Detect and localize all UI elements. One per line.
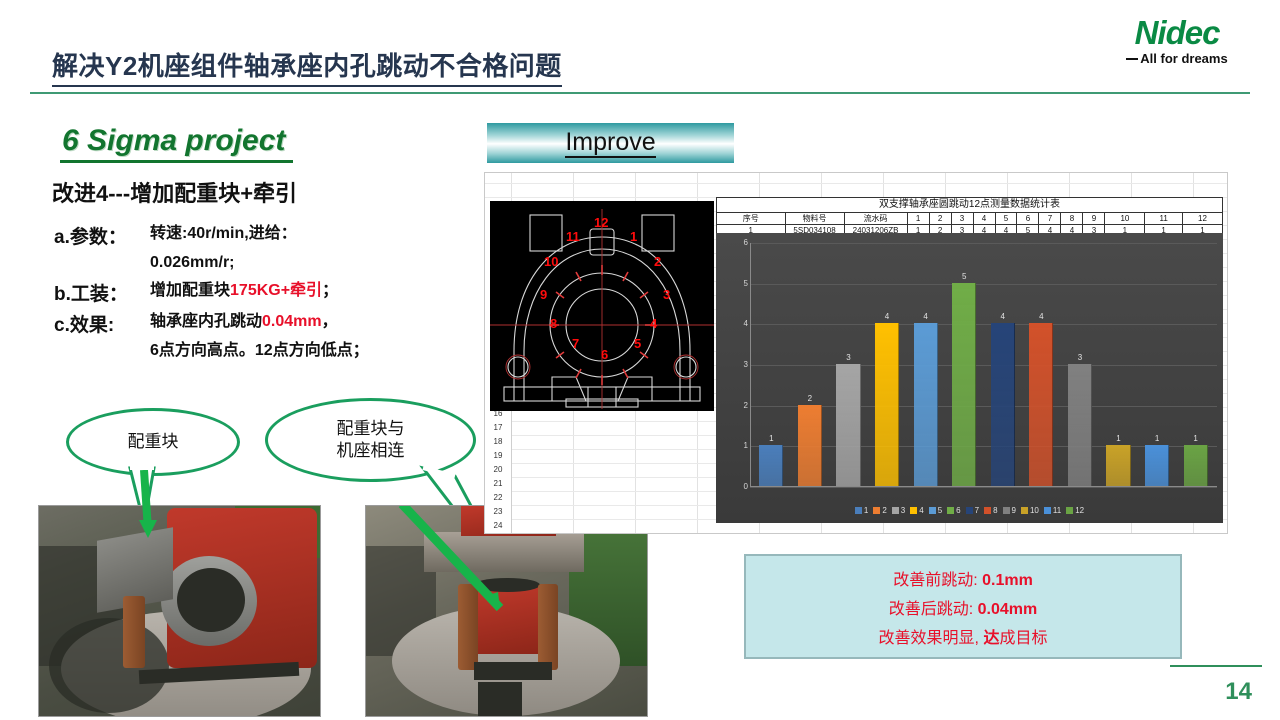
chart-x-axis (750, 486, 1217, 487)
table-header-cell: 11 (1145, 213, 1183, 225)
chart-bar-group: 4 (983, 243, 1022, 486)
table-header-cell: 物料号 (785, 213, 844, 225)
chart-bar[interactable] (1145, 445, 1169, 486)
chart-legend-swatch (929, 507, 936, 514)
cad-number-11: 11 (566, 229, 580, 244)
chart-legend-swatch (1044, 507, 1051, 514)
bullet-c-highlight: 0.04mm (262, 313, 322, 330)
excel-row-header: 21 (485, 477, 512, 492)
logo-tagline-text: All for dreams (1140, 51, 1227, 66)
improvement-heading: 改进4---增加配重块+牵引 (52, 176, 297, 208)
callout-1-text: 配重块 (128, 431, 179, 453)
chart-bar[interactable] (798, 405, 822, 486)
chart-legend: 123456789101112 (716, 506, 1223, 515)
chart-bar-value-label: 2 (808, 394, 812, 403)
page-title: 解决Y2机座组件轴承座内孔跳动不合格问题 (52, 46, 562, 87)
cad-number-8: 8 (550, 316, 557, 331)
table-title: 双支撑轴承座圆跳动12点测量数据统计表 (717, 198, 1223, 213)
chart-bar-group: 3 (829, 243, 868, 486)
bullet-item-b: b.工装： 增加配重块175KG+牵引； (54, 279, 474, 306)
table-header-row: 序号物料号流水码123456789101112 (717, 213, 1223, 225)
chart-bar-value-label: 5 (962, 272, 966, 281)
chart-bars: 123445443111 (752, 243, 1215, 486)
chart-legend-item[interactable]: 12 (1066, 506, 1084, 515)
measurement-data-table: 双支撑轴承座圆跳动12点测量数据统计表 序号物料号流水码123456789101… (716, 197, 1223, 237)
chart-legend-item[interactable]: 3 (892, 506, 905, 515)
chart-bar[interactable] (875, 323, 899, 486)
chart-legend-item[interactable]: 4 (910, 506, 923, 515)
bullet-c-value2: 6点方向高点。12点方向低点； (150, 339, 474, 363)
page-number: 14 (1225, 678, 1252, 706)
chart-legend-item[interactable]: 5 (929, 506, 942, 515)
chart-y-tick-label: 1 (734, 441, 748, 450)
cad-number-9: 9 (540, 287, 547, 302)
chart-bar-value-label: 1 (1116, 434, 1120, 443)
chart-legend-swatch (947, 507, 954, 514)
table-header-cell: 5 (995, 213, 1017, 225)
chart-legend-swatch (1021, 507, 1028, 514)
chart-bar-group: 1 (752, 243, 791, 486)
chart-legend-item[interactable]: 1 (855, 506, 868, 515)
bullet-b-value: 增加配重块175KG+牵引； (150, 279, 338, 303)
chart-legend-item[interactable]: 2 (873, 506, 886, 515)
table-header-cell: 9 (1083, 213, 1105, 225)
photo-left-support-post (123, 596, 145, 668)
chart-bar[interactable] (759, 445, 783, 486)
chart-legend-label: 5 (938, 506, 942, 515)
chart-legend-item[interactable]: 9 (1003, 506, 1016, 515)
chart-bar-value-label: 4 (885, 312, 889, 321)
chart-y-tick-label: 6 (734, 238, 748, 247)
cad-number-1: 1 (630, 229, 637, 244)
chart-y-tick-label: 5 (734, 279, 748, 288)
excel-row-header: 18 (485, 435, 512, 450)
improve-banner: Improve (487, 123, 734, 163)
chart-bar-group: 1 (1099, 243, 1138, 486)
summary-2-label: 改善后跳动: (889, 601, 978, 618)
footer-divider (1170, 665, 1262, 667)
summary-3-pre: 改善效果明显, (879, 630, 984, 647)
chart-bar-value-label: 1 (769, 434, 773, 443)
photo-counterweight-connected (365, 505, 648, 717)
chart-legend-label: 6 (956, 506, 960, 515)
logo-wordmark: Nidec (1092, 16, 1262, 50)
chart-bar-value-label: 1 (1193, 434, 1197, 443)
bullet-b-highlight: 175KG+牵引 (230, 282, 322, 299)
table-header-cell: 2 (929, 213, 951, 225)
improve-banner-label: Improve (565, 128, 655, 158)
summary-line-1: 改善前跳动: 0.1mm (893, 566, 1033, 590)
chart-legend-item[interactable]: 8 (984, 506, 997, 515)
photo-left-bore-inner (177, 568, 245, 632)
chart-bar-group: 2 (791, 243, 830, 486)
chart-legend-label: 1 (864, 506, 868, 515)
chart-bar[interactable] (1106, 445, 1130, 486)
bullet-b-post: ； (322, 282, 338, 299)
chart-y-tick-label: 4 (734, 319, 748, 328)
chart-legend-label: 8 (993, 506, 997, 515)
chart-bar-value-label: 3 (1078, 353, 1082, 362)
photo-right-tslot (478, 682, 522, 716)
cad-number-6: 6 (601, 347, 608, 362)
excel-gridline-h (485, 183, 1227, 184)
photo-right-base-plate (474, 662, 552, 680)
chart-bar-group: 4 (906, 243, 945, 486)
chart-legend-label: 11 (1053, 506, 1061, 515)
callout-connection: 配重块与 机座相连 (265, 398, 476, 482)
chart-legend-item[interactable]: 7 (966, 506, 979, 515)
chart-legend-item[interactable]: 6 (947, 506, 960, 515)
chart-bar[interactable] (914, 323, 938, 486)
summary-3-post: 成目标 (999, 630, 1047, 647)
chart-legend-swatch (873, 507, 880, 514)
summary-line-3: 改善效果明显, 达成目标 (879, 624, 1048, 648)
photo-left-table-slot (49, 618, 169, 713)
chart-bar-value-label: 4 (1039, 312, 1043, 321)
table-header-cell: 12 (1182, 213, 1222, 225)
cad-number-3: 3 (663, 287, 670, 302)
cad-number-10: 10 (544, 254, 558, 269)
chart-legend-label: 12 (1075, 506, 1084, 515)
chart-legend-label: 7 (975, 506, 979, 515)
bar-chart: 0123456 123445443111 123456789101112 (716, 233, 1223, 523)
bullet-item-c: c.效果: 轴承座内孔跳动0.04mm， (54, 310, 474, 337)
bullet-c-post: ， (322, 313, 338, 330)
chart-legend-swatch (1066, 507, 1073, 514)
callout-counterweight: 配重块 (66, 408, 240, 476)
chart-bar-group: 3 (1061, 243, 1100, 486)
chart-y-tick-label: 3 (734, 360, 748, 369)
summary-1-label: 改善前跳动: (893, 572, 982, 589)
chart-legend-swatch (1003, 507, 1010, 514)
excel-row-header: 22 (485, 491, 512, 506)
chart-legend-swatch (892, 507, 899, 514)
header-divider (30, 92, 1250, 94)
cad-outline-icon (490, 201, 714, 411)
chart-bar[interactable] (1184, 445, 1208, 486)
cad-number-12: 12 (594, 215, 608, 230)
chart-bar-group: 5 (945, 243, 984, 486)
chart-bar-group: 4 (1022, 243, 1061, 486)
chart-legend-swatch (910, 507, 917, 514)
bullet-c-key: c.效果: (54, 310, 150, 337)
summary-line-2: 改善后跳动: 0.04mm (889, 595, 1038, 619)
chart-y-axis (750, 243, 751, 487)
chart-legend-swatch (966, 507, 973, 514)
chart-legend-swatch (984, 507, 991, 514)
chart-legend-label: 4 (919, 506, 923, 515)
chart-bar-value-label: 4 (1001, 312, 1005, 321)
table-header-cell: 10 (1105, 213, 1145, 225)
bullet-b-key: b.工装： (54, 279, 150, 306)
chart-bar-group: 1 (1138, 243, 1177, 486)
cad-number-2: 2 (654, 254, 661, 269)
table-header-cell: 3 (951, 213, 973, 225)
bullet-a-value: 转速:40r/min,进给： (150, 222, 297, 246)
chart-legend-swatch (855, 507, 862, 514)
summary-2-value: 0.04mm (978, 601, 1038, 618)
table-header-cell: 4 (973, 213, 995, 225)
bullet-c-pre: 轴承座内孔跳动 (150, 313, 262, 330)
section-heading: 6 Sigma project (60, 124, 293, 163)
photo-right-post-right (538, 584, 558, 670)
excel-screenshot-panel: 23456789101112131415161718192021222324 (484, 172, 1228, 534)
bullet-list: a.参数： 转速:40r/min,进给： 0.026mm/r; b.工装： 增加… (54, 222, 474, 363)
chart-y-tick-label: 0 (734, 482, 748, 491)
chart-gridline (750, 487, 1217, 488)
chart-bar[interactable] (991, 323, 1015, 486)
chart-bar[interactable] (952, 283, 976, 486)
bullet-a-key: a.参数： (54, 222, 150, 249)
excel-row-header: 20 (485, 463, 512, 478)
chart-bar-group: 1 (1176, 243, 1215, 486)
bullet-c-value: 轴承座内孔跳动0.04mm， (150, 310, 338, 334)
chart-legend-item[interactable]: 11 (1044, 506, 1061, 515)
chart-plot-area: 0123456 123445443111 (750, 243, 1217, 487)
table-title-row: 双支撑轴承座圆跳动12点测量数据统计表 (717, 198, 1223, 213)
chart-legend-label: 10 (1030, 506, 1039, 515)
table-header-cell: 1 (907, 213, 929, 225)
table-header-cell: 7 (1039, 213, 1061, 225)
excel-row-header: 19 (485, 449, 512, 464)
excel-row-header: 23 (485, 505, 512, 520)
chart-bar-value-label: 3 (846, 353, 850, 362)
bullet-a-value2: 0.026mm/r; (150, 251, 474, 275)
table-header-cell: 6 (1017, 213, 1039, 225)
bullet-item-a: a.参数： 转速:40r/min,进给： (54, 222, 474, 249)
chart-legend-label: 9 (1012, 506, 1016, 515)
slide: 解决Y2机座组件轴承座内孔跳动不合格问题 Nidec All for dream… (0, 0, 1280, 720)
chart-bar[interactable] (1068, 364, 1092, 486)
nidec-logo: Nidec All for dreams (1092, 16, 1262, 78)
summary-1-value: 0.1mm (982, 572, 1033, 589)
chart-legend-label: 3 (901, 506, 905, 515)
excel-row-header: 24 (485, 519, 512, 534)
logo-dash-icon (1126, 58, 1138, 60)
summary-box: 改善前跳动: 0.1mm 改善后跳动: 0.04mm 改善效果明显, 达成目标 (744, 554, 1182, 659)
table-header-cell: 序号 (717, 213, 786, 225)
chart-bar-value-label: 4 (923, 312, 927, 321)
table-header-cell: 8 (1061, 213, 1083, 225)
chart-bar-group: 4 (868, 243, 907, 486)
cad-number-7: 7 (572, 336, 579, 351)
chart-y-tick-label: 2 (734, 401, 748, 410)
chart-legend-item[interactable]: 10 (1021, 506, 1039, 515)
summary-3-bold: 达 (983, 630, 999, 647)
callout-1-arrow-icon (130, 470, 190, 540)
table-header-cell: 流水码 (844, 213, 907, 225)
callout-2-line1: 配重块与 (337, 418, 405, 440)
cad-drawing-bearing-housing: 12 1 2 3 4 5 6 7 8 9 10 11 (490, 201, 714, 411)
cad-number-5: 5 (634, 336, 641, 351)
logo-tagline: All for dreams (1092, 51, 1262, 66)
excel-row-header: 17 (485, 421, 512, 436)
chart-legend-label: 2 (882, 506, 886, 515)
callout-2-line2: 机座相连 (337, 440, 405, 462)
bullet-b-pre: 增加配重块 (150, 282, 230, 299)
chart-bar-value-label: 1 (1155, 434, 1159, 443)
chart-bar[interactable] (1029, 323, 1053, 486)
cad-number-4: 4 (650, 316, 657, 331)
chart-bar[interactable] (836, 364, 860, 486)
